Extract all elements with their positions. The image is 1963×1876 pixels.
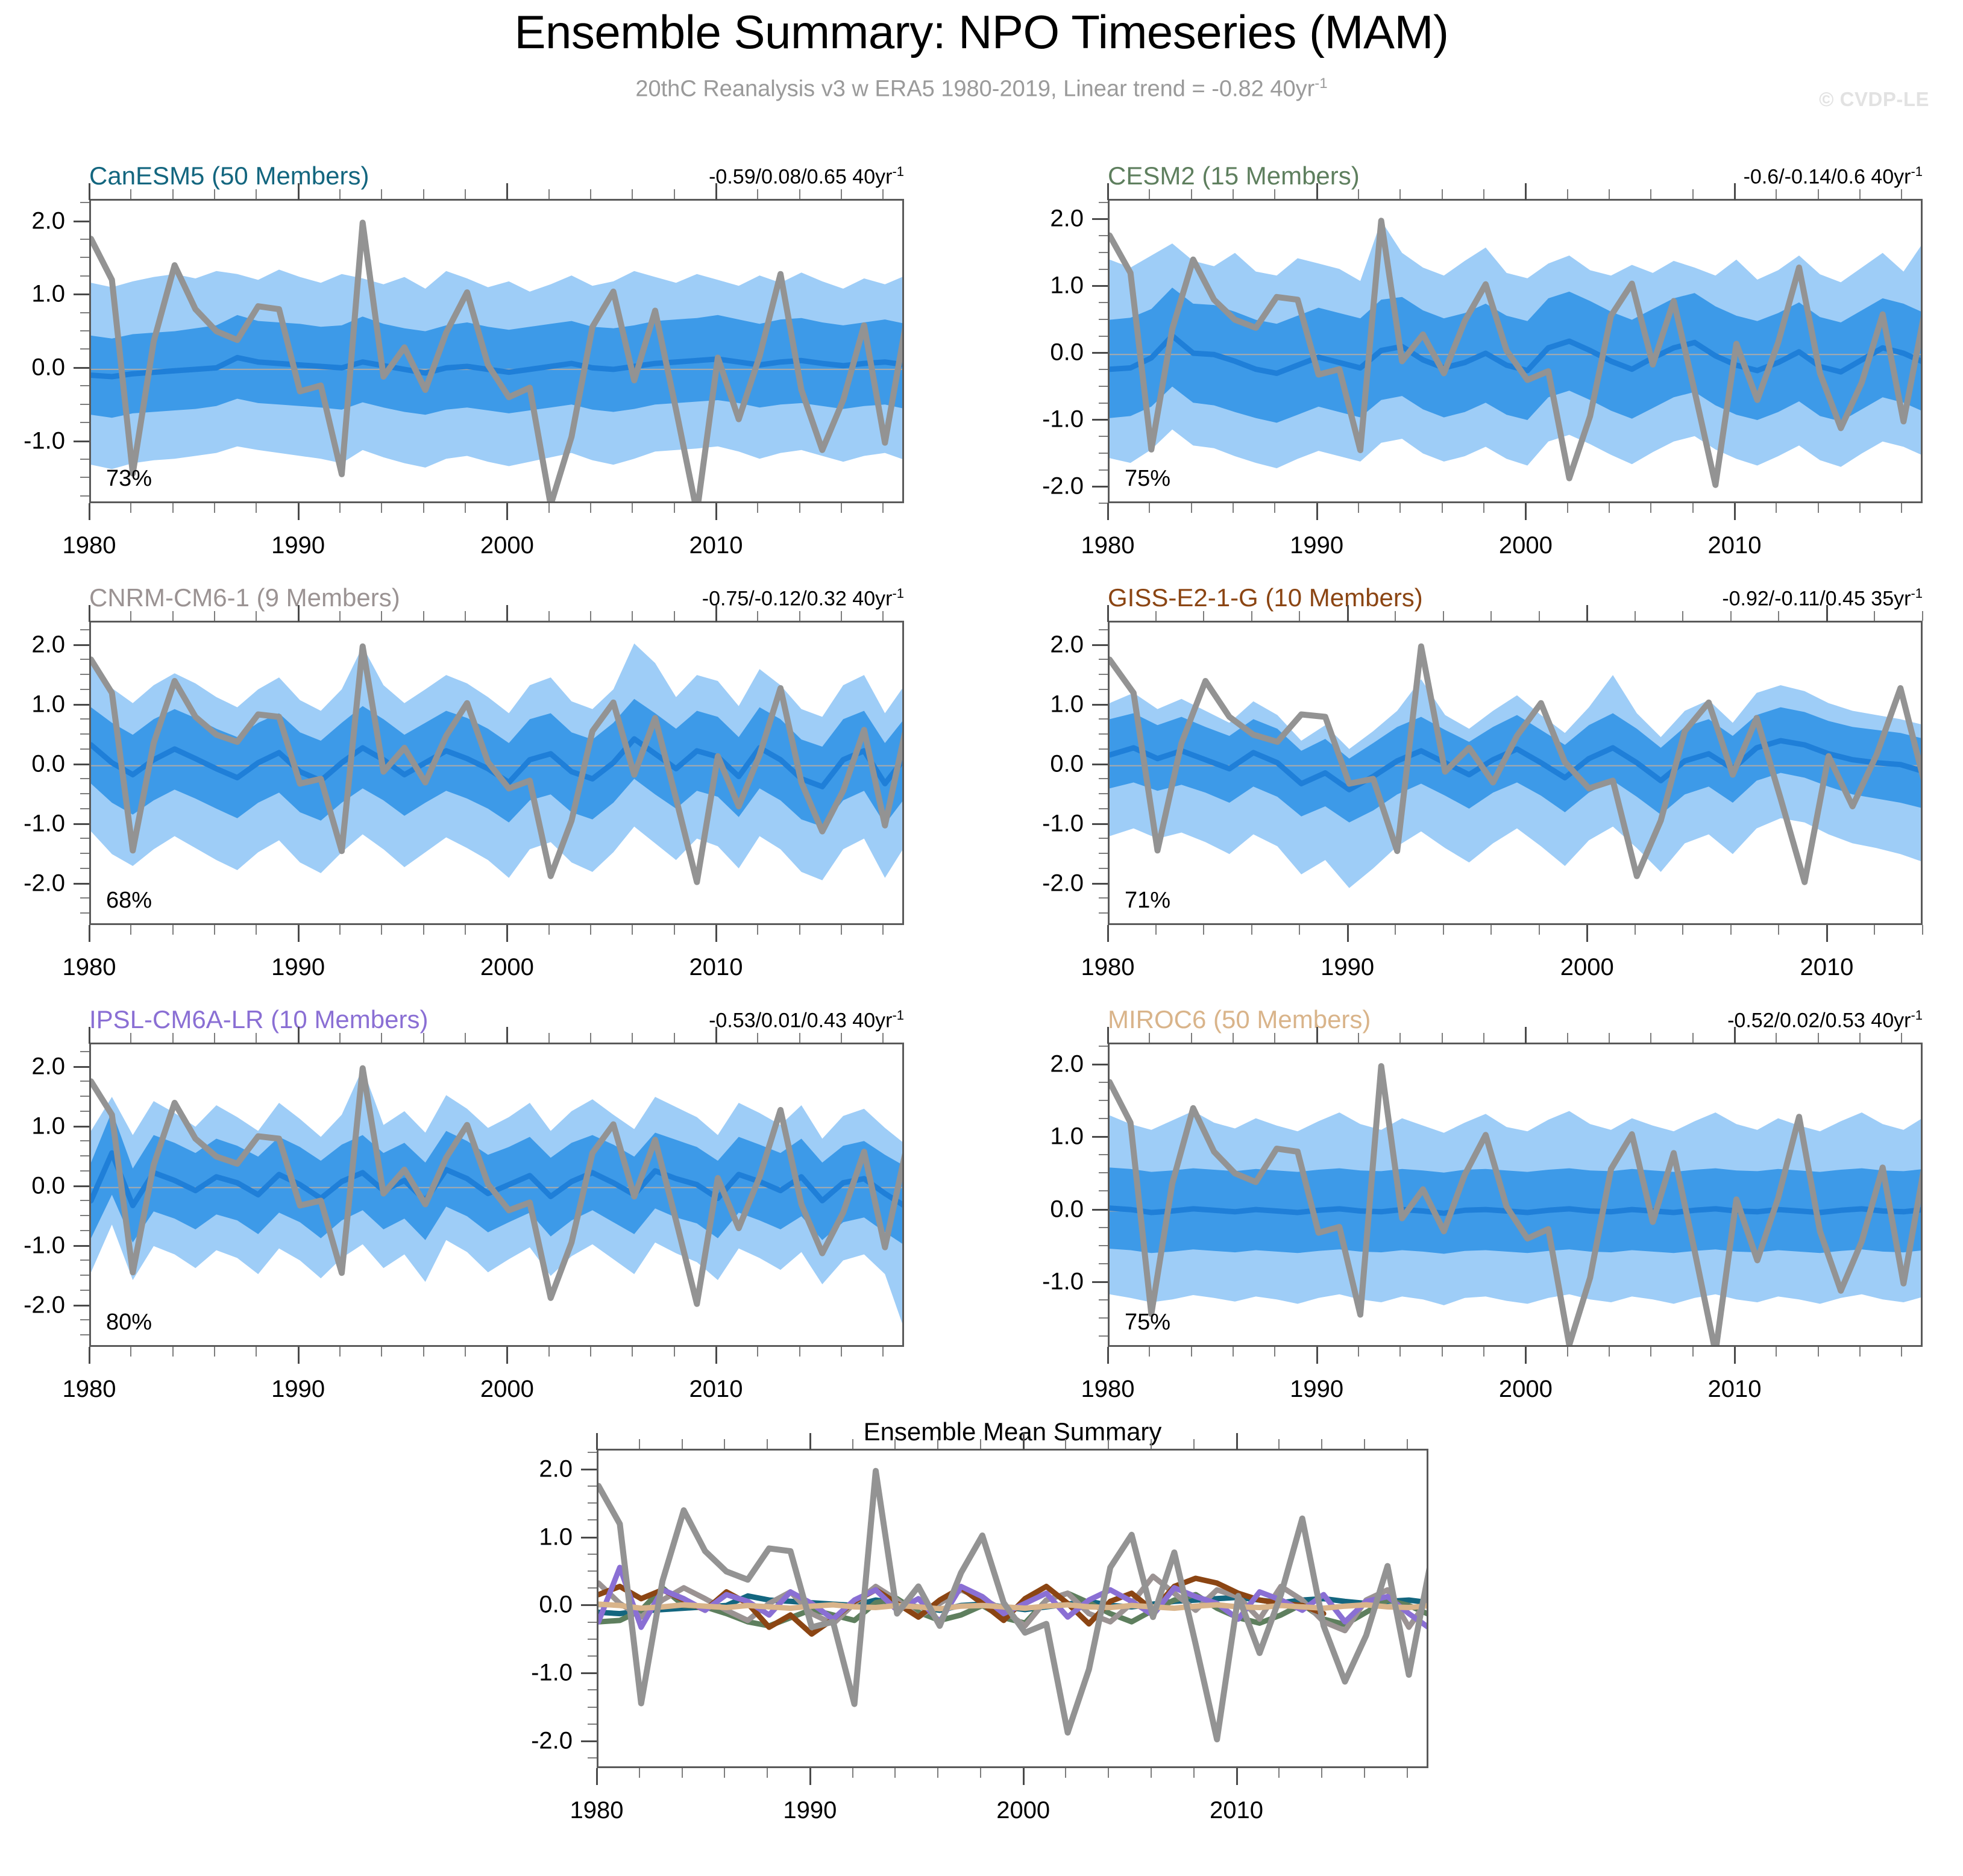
x-tick-label: 2010 <box>689 1376 743 1403</box>
x-minor-tick <box>1922 925 1923 935</box>
x-minor-tick <box>724 1768 725 1778</box>
x-major-tick-top <box>1525 1027 1527 1044</box>
y-major-tick <box>1092 1136 1108 1138</box>
x-minor-tick-top <box>757 189 758 199</box>
x-major-tick-top <box>1107 605 1109 622</box>
x-tick-label: 1990 <box>1321 954 1374 981</box>
x-minor-tick-top <box>256 189 257 199</box>
plot-svg <box>91 1044 904 1347</box>
y-tick-label: 0.0 <box>1050 339 1084 366</box>
x-minor-tick <box>841 1347 842 1357</box>
y-tick-label: -1.0 <box>24 810 65 837</box>
x-minor-tick-top <box>841 611 842 621</box>
y-major-tick <box>1092 486 1108 488</box>
panel-trend-text: -0.52/0.02/0.53 40yr <box>1727 1009 1911 1032</box>
x-minor-tick <box>339 1347 341 1357</box>
x-minor-tick-top <box>339 189 341 199</box>
panel-trend-cnrm: -0.75/-0.12/0.32 40yr-1 <box>702 586 904 610</box>
plot-area-cesm2 <box>1108 199 1923 503</box>
x-minor-tick <box>757 503 758 513</box>
y-minor-tick <box>80 1051 89 1052</box>
y-tick-label: 1.0 <box>31 691 65 718</box>
y-major-tick <box>74 704 89 706</box>
y-tick-label: 2.0 <box>31 1053 65 1080</box>
x-minor-tick <box>423 925 424 935</box>
y-minor-tick <box>80 330 89 331</box>
x-minor-tick-top <box>1191 189 1192 199</box>
percent-label-miroc6: 75% <box>1125 1310 1170 1335</box>
y-tick-label: -1.0 <box>531 1660 573 1687</box>
x-minor-tick-top <box>130 189 131 199</box>
y-minor-tick <box>80 1230 89 1231</box>
x-minor-tick <box>1901 503 1902 513</box>
panel-trend-cesm2: -0.6/-0.14/0.6 40yr-1 <box>1744 164 1923 189</box>
plot-area-miroc6 <box>1108 1043 1923 1347</box>
x-minor-tick-top <box>172 611 174 621</box>
x-minor-tick-top <box>1859 1033 1861 1043</box>
x-minor-tick <box>937 1768 938 1778</box>
y-tick-label: -1.0 <box>1042 810 1084 837</box>
y-minor-tick <box>80 718 89 720</box>
x-minor-tick <box>1442 1347 1443 1357</box>
y-minor-tick <box>1099 1172 1108 1173</box>
y-minor-tick <box>1099 1227 1108 1228</box>
x-major-tick-top <box>1347 605 1349 622</box>
y-major-tick <box>74 293 89 295</box>
x-minor-tick <box>639 1768 640 1778</box>
x-major-tick-top <box>298 605 300 622</box>
y-minor-tick <box>588 1485 597 1487</box>
y-major-tick <box>1092 823 1108 825</box>
x-minor-tick-top <box>381 189 382 199</box>
x-minor-tick <box>1609 1347 1610 1357</box>
y-major-tick <box>74 367 89 369</box>
x-minor-tick-top <box>1567 1033 1568 1043</box>
x-minor-tick <box>339 503 341 513</box>
y-minor-tick <box>80 674 89 675</box>
y-tick-label: 2.0 <box>31 631 65 658</box>
x-minor-tick-top <box>590 611 591 621</box>
x-minor-tick-top <box>256 1033 257 1043</box>
x-minor-tick-top <box>381 1033 382 1043</box>
x-minor-tick <box>882 503 884 513</box>
x-minor-tick-top <box>214 1033 215 1043</box>
x-minor-tick-top <box>1399 1033 1401 1043</box>
y-minor-tick <box>1099 1299 1108 1300</box>
x-minor-tick-top <box>1776 1033 1777 1043</box>
y-minor-tick <box>1099 252 1108 253</box>
x-major-tick <box>506 1347 508 1364</box>
x-minor-tick <box>1399 503 1401 513</box>
y-minor-tick <box>80 202 89 203</box>
y-minor-tick <box>80 748 89 750</box>
x-minor-tick-top <box>130 1033 131 1043</box>
x-minor-tick <box>682 1768 683 1778</box>
y-tick-label: -1.0 <box>24 427 65 454</box>
y-tick-label: 1.0 <box>31 281 65 308</box>
x-major-tick-top <box>89 1027 90 1044</box>
x-minor-tick-top <box>1442 189 1443 199</box>
y-minor-tick <box>80 385 89 386</box>
x-major-tick <box>89 503 90 520</box>
x-major-tick-top <box>715 1027 717 1044</box>
x-major-tick-top <box>809 1433 811 1450</box>
y-minor-tick <box>1099 674 1108 675</box>
x-tick-label: 1990 <box>1290 1376 1343 1403</box>
panel-title-miroc6: MIROC6 (50 Members) <box>1108 1005 1371 1034</box>
y-minor-tick <box>588 1519 597 1520</box>
x-minor-tick <box>1155 925 1157 935</box>
y-minor-tick <box>1099 1245 1108 1246</box>
y-minor-tick <box>1099 1046 1108 1047</box>
y-tick-label: 1.0 <box>31 1112 65 1140</box>
y-minor-tick <box>1099 503 1108 504</box>
x-major-tick-top <box>298 183 300 200</box>
panel-trend-miroc6: -0.52/0.02/0.53 40yr-1 <box>1727 1008 1923 1032</box>
y-minor-tick <box>588 1622 597 1623</box>
x-minor-tick-top <box>674 611 675 621</box>
y-minor-tick <box>80 1334 89 1335</box>
panel-trend-ipsl: -0.53/0.01/0.43 40yr-1 <box>709 1008 904 1032</box>
x-minor-tick-top <box>894 1439 896 1449</box>
x-minor-tick <box>1274 503 1275 513</box>
x-minor-tick <box>882 1347 884 1357</box>
y-minor-tick <box>1099 336 1108 337</box>
y-tick-label: 2.0 <box>539 1455 573 1482</box>
x-tick-label: 1980 <box>1081 532 1135 559</box>
x-minor-tick <box>1859 1347 1861 1357</box>
x-major-tick-top <box>506 605 508 622</box>
x-major-tick-top <box>1316 1027 1318 1044</box>
x-minor-tick-top <box>381 611 382 621</box>
page-subtitle-superscript: -1 <box>1314 75 1327 92</box>
x-minor-tick <box>1567 1347 1568 1357</box>
y-minor-tick <box>1099 1335 1108 1337</box>
x-minor-tick <box>1151 1768 1152 1778</box>
x-tick-label: 1980 <box>63 954 116 981</box>
y-minor-tick <box>1099 659 1108 660</box>
plot-svg <box>1110 201 1923 503</box>
y-tick-label: 1.0 <box>1050 272 1084 300</box>
x-minor-tick <box>1251 925 1252 935</box>
x-minor-tick-top <box>1874 611 1875 621</box>
x-minor-tick-top <box>1650 189 1651 199</box>
panel-title-giss: GISS-E2-1-G (10 Members) <box>1108 583 1423 612</box>
y-major-tick <box>74 441 89 442</box>
x-minor-tick <box>1443 925 1444 935</box>
y-minor-tick <box>80 912 89 914</box>
panel-title-cnrm: CNRM-CM6-1 (9 Members) <box>89 583 400 612</box>
x-minor-tick-top <box>1149 189 1150 199</box>
x-minor-tick <box>590 1347 591 1357</box>
x-minor-tick-top <box>757 1033 758 1043</box>
x-minor-tick <box>465 925 466 935</box>
y-minor-tick <box>588 1689 597 1690</box>
y-major-tick <box>74 1066 89 1068</box>
x-major-tick <box>1525 503 1527 520</box>
x-minor-tick-top <box>1650 1033 1651 1043</box>
x-minor-tick-top <box>1692 1033 1694 1043</box>
x-minor-tick <box>130 1347 131 1357</box>
x-minor-tick <box>465 503 466 513</box>
x-minor-tick <box>1483 1347 1484 1357</box>
y-major-tick <box>1092 1281 1108 1283</box>
x-major-tick-top <box>1525 183 1527 200</box>
x-tick-label: 1990 <box>271 1376 325 1403</box>
x-minor-tick <box>381 1347 382 1357</box>
x-minor-tick-top <box>757 611 758 621</box>
y-minor-tick <box>80 629 89 630</box>
panel-title-cesm2: CESM2 (15 Members) <box>1108 162 1360 190</box>
x-minor-tick-top <box>1193 1439 1195 1449</box>
y-major-tick <box>1092 419 1108 421</box>
x-minor-tick-top <box>799 189 800 199</box>
x-minor-tick-top <box>674 189 675 199</box>
x-minor-tick <box>1358 503 1359 513</box>
y-major-tick <box>74 1245 89 1247</box>
x-minor-tick <box>894 1768 896 1778</box>
x-minor-tick <box>852 1768 853 1778</box>
x-minor-tick <box>1692 503 1694 513</box>
x-tick-label: 1990 <box>271 954 325 981</box>
y-minor-tick <box>1099 1317 1108 1319</box>
x-minor-tick <box>339 925 341 935</box>
x-minor-tick <box>1874 925 1875 935</box>
x-minor-tick-top <box>882 1033 884 1043</box>
y-minor-tick <box>80 853 89 854</box>
x-tick-label: 1980 <box>63 532 116 559</box>
x-minor-tick <box>1635 925 1636 935</box>
x-minor-tick <box>130 925 131 935</box>
y-tick-label: -2.0 <box>1042 473 1084 500</box>
y-major-tick <box>1092 644 1108 646</box>
x-minor-tick <box>172 1347 174 1357</box>
x-minor-tick-top <box>1922 611 1923 621</box>
x-major-tick <box>809 1768 811 1785</box>
panel-trend-superscript: -1 <box>892 1008 904 1023</box>
x-minor-tick <box>1818 503 1819 513</box>
y-major-tick <box>74 883 89 885</box>
x-major-tick-top <box>1107 183 1109 200</box>
x-tick-label: 2000 <box>1499 1376 1553 1403</box>
x-major-tick <box>298 503 300 520</box>
x-tick-label: 2000 <box>480 532 534 559</box>
page-subtitle: 20thC Reanalysis v3 w ERA5 1980-2019, Li… <box>0 75 1963 102</box>
y-major-tick <box>1092 764 1108 765</box>
x-tick-label: 2010 <box>1708 1376 1762 1403</box>
y-minor-tick <box>80 1275 89 1276</box>
y-tick-label: 2.0 <box>1050 205 1084 233</box>
x-minor-tick <box>632 503 633 513</box>
x-minor-tick-top <box>632 611 633 621</box>
x-minor-tick <box>632 925 633 935</box>
y-minor-tick <box>1099 689 1108 690</box>
x-minor-tick-top <box>767 1439 768 1449</box>
x-minor-tick <box>1818 1347 1819 1357</box>
y-minor-tick <box>1099 748 1108 750</box>
x-minor-tick-top <box>1233 189 1234 199</box>
x-major-tick <box>89 925 90 942</box>
x-minor-tick-top <box>1901 189 1902 199</box>
y-minor-tick <box>80 404 89 405</box>
x-major-tick <box>1236 1768 1238 1785</box>
y-minor-tick <box>588 1587 597 1589</box>
x-minor-tick-top <box>1274 189 1275 199</box>
x-minor-tick <box>548 925 550 935</box>
panel-trend-superscript: -1 <box>1911 586 1923 601</box>
y-minor-tick <box>80 838 89 839</box>
x-minor-tick-top <box>548 189 550 199</box>
y-minor-tick <box>80 1140 89 1141</box>
x-minor-tick-top <box>980 1439 981 1449</box>
x-tick-label: 1980 <box>570 1797 624 1824</box>
y-major-tick <box>581 1469 597 1470</box>
x-minor-tick-top <box>1399 189 1401 199</box>
x-major-tick-top <box>1734 1027 1736 1044</box>
y-major-tick <box>1092 1064 1108 1065</box>
x-minor-tick <box>1358 1347 1359 1357</box>
cvdp-watermark: © CVDP-LE <box>1819 88 1929 111</box>
x-minor-tick-top <box>1233 1033 1234 1043</box>
x-tick-label: 2010 <box>1708 532 1762 559</box>
x-minor-tick-top <box>214 611 215 621</box>
x-tick-label: 1980 <box>1081 1376 1135 1403</box>
x-minor-tick <box>1730 925 1732 935</box>
x-minor-tick-top <box>423 1033 424 1043</box>
x-minor-tick <box>799 503 800 513</box>
x-minor-tick-top <box>339 1033 341 1043</box>
x-minor-tick-top <box>1483 189 1484 199</box>
x-minor-tick <box>1901 1347 1902 1357</box>
x-minor-tick-top <box>1151 1439 1152 1449</box>
y-minor-tick <box>80 689 89 690</box>
y-minor-tick <box>588 1570 597 1572</box>
y-minor-tick <box>80 257 89 258</box>
x-tick-label: 1990 <box>783 1797 837 1824</box>
x-minor-tick-top <box>1407 1439 1408 1449</box>
x-minor-tick <box>1108 1768 1109 1778</box>
y-minor-tick <box>80 733 89 735</box>
y-major-tick <box>1092 218 1108 220</box>
y-minor-tick <box>588 1502 597 1504</box>
x-minor-tick <box>1778 925 1779 935</box>
x-minor-tick <box>757 1347 758 1357</box>
x-minor-tick-top <box>548 1033 550 1043</box>
x-major-tick <box>506 925 508 942</box>
y-tick-label: 2.0 <box>31 207 65 234</box>
page-title: Ensemble Summary: NPO Timeseries (MAM) <box>0 5 1963 60</box>
x-major-tick <box>89 1347 90 1364</box>
x-major-tick <box>1525 1347 1527 1364</box>
y-tick-label: -2.0 <box>24 1291 65 1319</box>
x-major-tick-top <box>1316 183 1318 200</box>
panel-trend-giss: -0.92/-0.11/0.45 35yr-1 <box>1722 586 1923 610</box>
panel-trend-canesm5: -0.59/0.08/0.65 40yr-1 <box>709 164 904 189</box>
y-minor-tick <box>1099 868 1108 869</box>
x-minor-tick <box>1399 1347 1401 1357</box>
percent-label-cesm2: 75% <box>1125 466 1170 492</box>
y-major-tick <box>581 1672 597 1674</box>
x-major-tick-top <box>715 183 717 200</box>
x-minor-tick-top <box>1818 189 1819 199</box>
x-tick-label: 2000 <box>996 1797 1050 1824</box>
y-minor-tick <box>588 1554 597 1555</box>
x-major-tick <box>715 1347 717 1364</box>
x-minor-tick <box>767 1768 768 1778</box>
y-minor-tick <box>1099 733 1108 735</box>
y-minor-tick <box>1099 853 1108 854</box>
x-minor-tick <box>256 503 257 513</box>
x-major-tick <box>1316 1347 1318 1364</box>
x-minor-tick <box>1203 925 1204 935</box>
y-major-tick <box>74 1185 89 1187</box>
y-minor-tick <box>1099 302 1108 303</box>
x-minor-tick <box>256 1347 257 1357</box>
panel-title-canesm5: CanESM5 (50 Members) <box>89 162 369 190</box>
x-major-tick <box>1107 503 1109 520</box>
y-major-tick <box>74 221 89 222</box>
y-tick-label: 0.0 <box>539 1592 573 1619</box>
x-tick-label: 1990 <box>1290 532 1343 559</box>
plot-area-giss <box>1108 621 1923 925</box>
x-minor-tick-top <box>1567 189 1568 199</box>
x-major-tick <box>1107 1347 1109 1364</box>
y-minor-tick <box>80 422 89 423</box>
plot-svg <box>1110 623 1923 925</box>
x-minor-tick <box>674 925 675 935</box>
y-minor-tick <box>80 477 89 478</box>
x-minor-tick-top <box>1901 1033 1902 1043</box>
x-major-tick <box>1107 925 1109 942</box>
x-minor-tick-top <box>1274 1033 1275 1043</box>
y-tick-label: -2.0 <box>531 1727 573 1754</box>
x-minor-tick <box>381 503 382 513</box>
y-minor-tick <box>80 1215 89 1216</box>
x-minor-tick-top <box>1609 189 1610 199</box>
x-minor-tick-top <box>1191 1033 1192 1043</box>
summary-panel-title: Ensemble Mean Summary <box>597 1417 1428 1446</box>
x-minor-tick-top <box>465 189 466 199</box>
panel-trend-text: -0.75/-0.12/0.32 40yr <box>702 587 893 610</box>
x-minor-tick <box>1299 925 1300 935</box>
x-minor-tick-top <box>130 611 131 621</box>
x-minor-tick <box>1650 503 1651 513</box>
y-minor-tick <box>1099 629 1108 630</box>
y-minor-tick <box>1099 386 1108 387</box>
y-minor-tick <box>1099 202 1108 203</box>
x-minor-tick <box>882 925 884 935</box>
x-minor-tick-top <box>590 189 591 199</box>
x-minor-tick <box>381 925 382 935</box>
y-minor-tick <box>1099 1263 1108 1264</box>
x-minor-tick <box>1321 1768 1322 1778</box>
plot-area-canesm5 <box>89 199 904 503</box>
x-major-tick-top <box>506 183 508 200</box>
x-minor-tick <box>214 925 215 935</box>
x-major-tick-top <box>1023 1433 1025 1450</box>
y-minor-tick <box>1099 436 1108 437</box>
x-minor-tick-top <box>937 1439 938 1449</box>
y-major-tick <box>74 823 89 825</box>
y-minor-tick <box>80 312 89 313</box>
y-tick-label: -2.0 <box>1042 870 1084 897</box>
x-minor-tick <box>590 503 591 513</box>
percent-label-ipsl: 80% <box>106 1310 152 1335</box>
x-major-tick <box>596 1768 598 1785</box>
x-tick-label: 2010 <box>1800 954 1853 981</box>
y-minor-tick <box>80 1111 89 1112</box>
x-major-tick <box>1734 503 1736 520</box>
